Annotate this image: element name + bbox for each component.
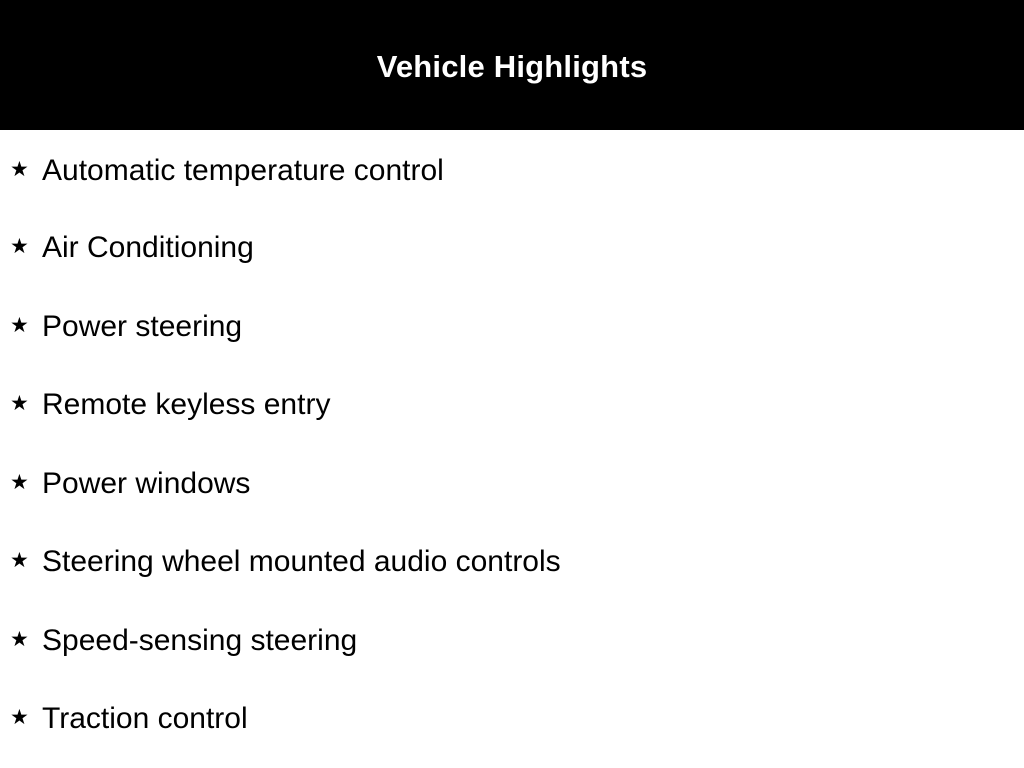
star-icon: ★ <box>10 472 42 493</box>
vehicle-highlights-list: ★ Automatic temperature control ★ Air Co… <box>0 130 1024 768</box>
star-icon: ★ <box>10 393 42 414</box>
list-item: ★ Power steering <box>0 287 1024 366</box>
highlight-label: Steering wheel mounted audio controls <box>42 546 561 578</box>
star-icon: ★ <box>10 236 42 257</box>
highlight-label: Traction control <box>42 703 248 735</box>
list-item: ★ Automatic temperature control <box>0 130 1024 209</box>
list-item: ★ Traction control <box>0 680 1024 759</box>
star-icon: ★ <box>10 315 42 336</box>
star-icon: ★ <box>10 629 42 650</box>
header-bar: Vehicle Highlights <box>0 0 1024 130</box>
highlight-label: Speed-sensing steering <box>42 625 357 657</box>
page-title: Vehicle Highlights <box>377 51 648 82</box>
star-icon: ★ <box>10 707 42 728</box>
list-item: ★ Remote keyless entry <box>0 366 1024 445</box>
list-item: ★ Air Conditioning <box>0 209 1024 288</box>
vehicle-highlights-page: Vehicle Highlights ★ Automatic temperatu… <box>0 0 1024 768</box>
star-icon: ★ <box>10 159 42 180</box>
list-item: ★ Steering wheel mounted audio controls <box>0 523 1024 602</box>
highlight-label: Power steering <box>42 311 242 343</box>
highlight-label: Power windows <box>42 468 250 500</box>
list-item: ★ Power windows <box>0 444 1024 523</box>
highlight-label: Air Conditioning <box>42 232 254 264</box>
highlight-label: Automatic temperature control <box>42 155 444 187</box>
star-icon: ★ <box>10 550 42 571</box>
highlight-label: Remote keyless entry <box>42 389 330 421</box>
list-item: ★ Speed-sensing steering <box>0 601 1024 680</box>
